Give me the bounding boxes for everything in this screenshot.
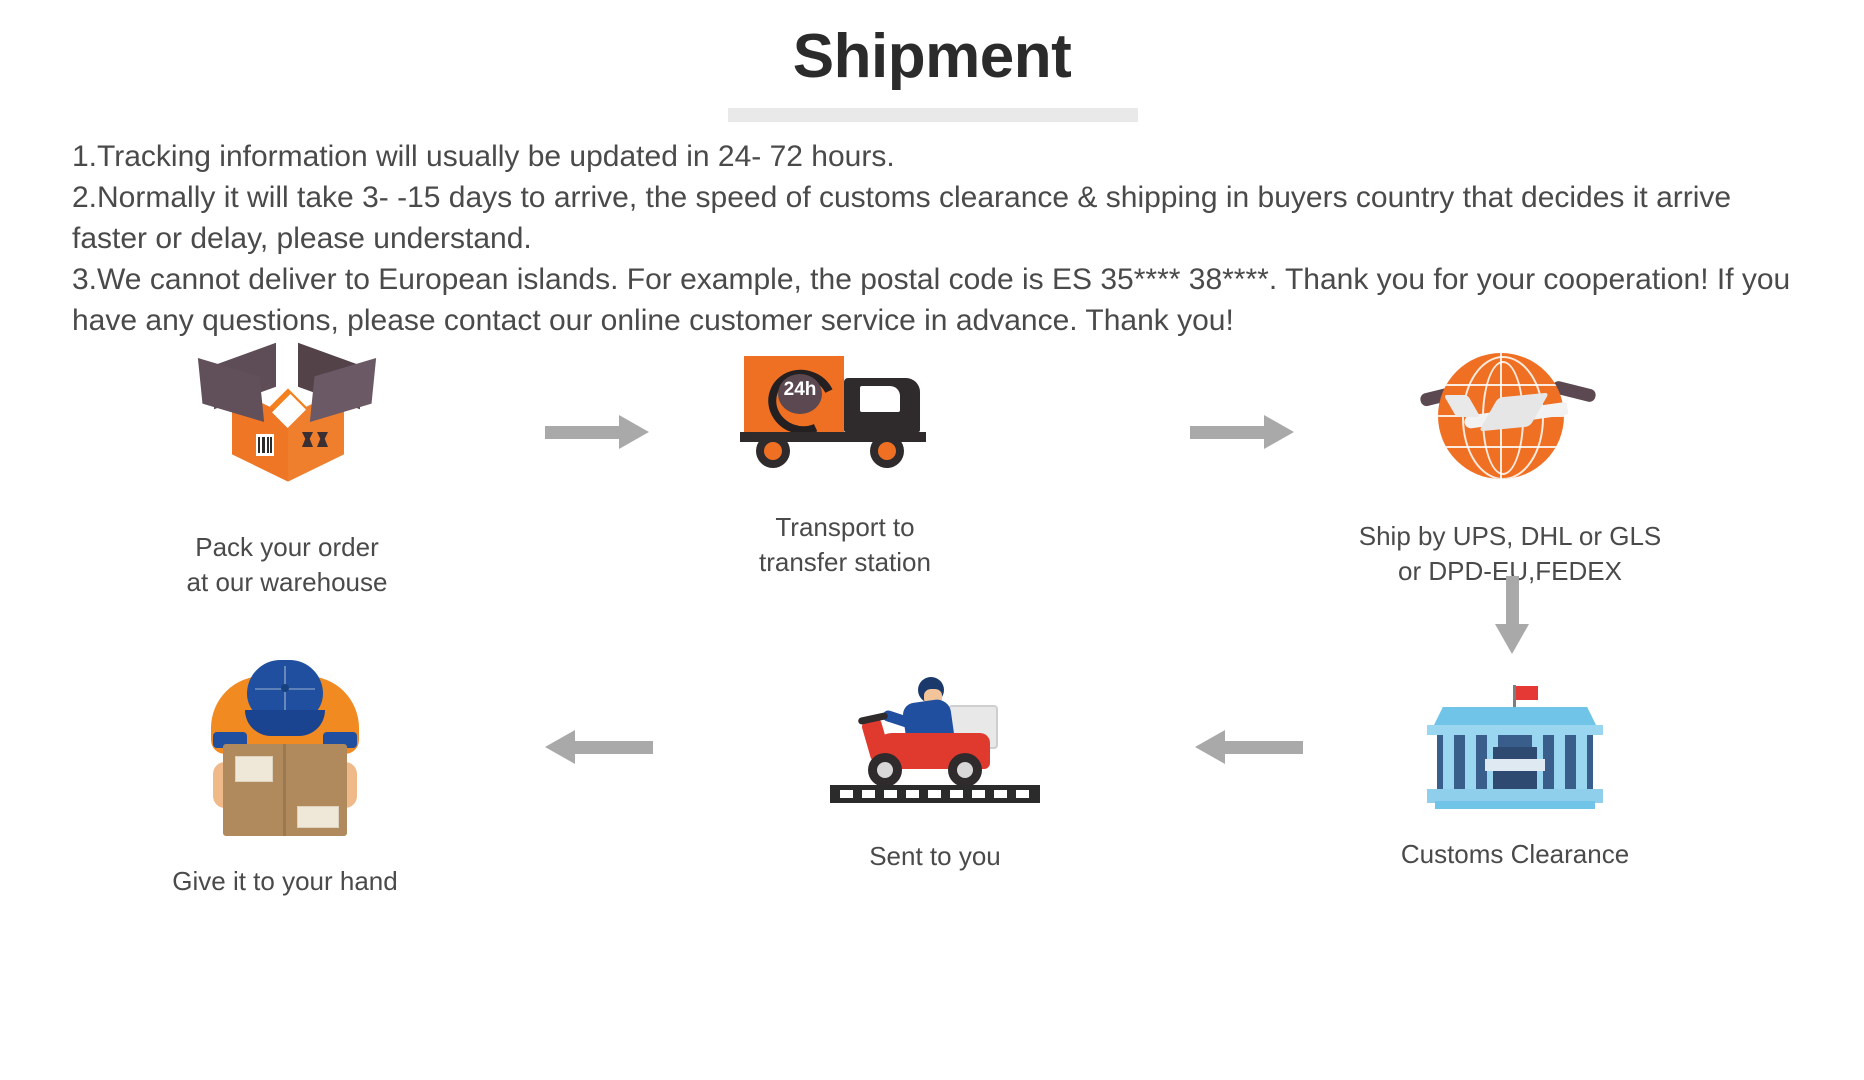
arrow-sent-to-handed — [545, 730, 665, 764]
deliveryman-parcel-icon — [205, 658, 365, 844]
flow-step-customs-caption: Customs Clearance — [1355, 837, 1675, 872]
flow-step-pack: Pack your order at our warehouse — [142, 350, 432, 600]
flow-step-customs: Customs Clearance — [1355, 685, 1675, 872]
shipment-flow-diagram: Pack your order at our warehouse 24h — [0, 390, 1864, 1080]
title-underline-bar — [728, 108, 1138, 122]
arrow-ship-to-customs — [1495, 576, 1529, 656]
shipping-notes: 1.Tracking information will usually be u… — [72, 136, 1802, 341]
note-line-2: 2.Normally it will take 3- -15 days to a… — [72, 177, 1802, 259]
flow-step-pack-caption: Pack your order at our warehouse — [142, 530, 432, 600]
flow-step-transport-caption: Transport to transfer station — [700, 510, 990, 580]
arrow-customs-to-sent — [1195, 730, 1315, 764]
note-line-1: 1.Tracking information will usually be u… — [72, 136, 1802, 177]
flow-step-ship: Ship by UPS, DHL or GLS or DPD-EU,FEDEX — [1320, 345, 1700, 589]
globe-airplane-icon — [1420, 345, 1600, 485]
scooter-courier-icon — [830, 675, 1040, 815]
truck-24h-badge-label: 24h — [778, 380, 822, 399]
flow-step-sent: Sent to you — [790, 675, 1080, 874]
open-box-icon — [194, 350, 380, 478]
page-title: Shipment — [793, 26, 1071, 88]
page-title-wrap: Shipment — [0, 26, 1864, 88]
shipment-infographic: Shipment 1.Tracking information will usu… — [0, 0, 1864, 1080]
flow-step-transport: 24h Transport to transfer station — [700, 350, 990, 580]
delivery-truck-icon: 24h — [740, 350, 950, 468]
customs-building-icon — [1427, 685, 1603, 811]
arrow-pack-to-transport — [545, 415, 653, 449]
note-line-3: 3.We cannot deliver to European islands.… — [72, 259, 1802, 341]
flow-step-handed: Give it to your hand — [140, 658, 430, 899]
arrow-transport-to-ship — [1190, 415, 1298, 449]
flow-step-handed-caption: Give it to your hand — [140, 864, 430, 899]
flow-step-sent-caption: Sent to you — [790, 839, 1080, 874]
